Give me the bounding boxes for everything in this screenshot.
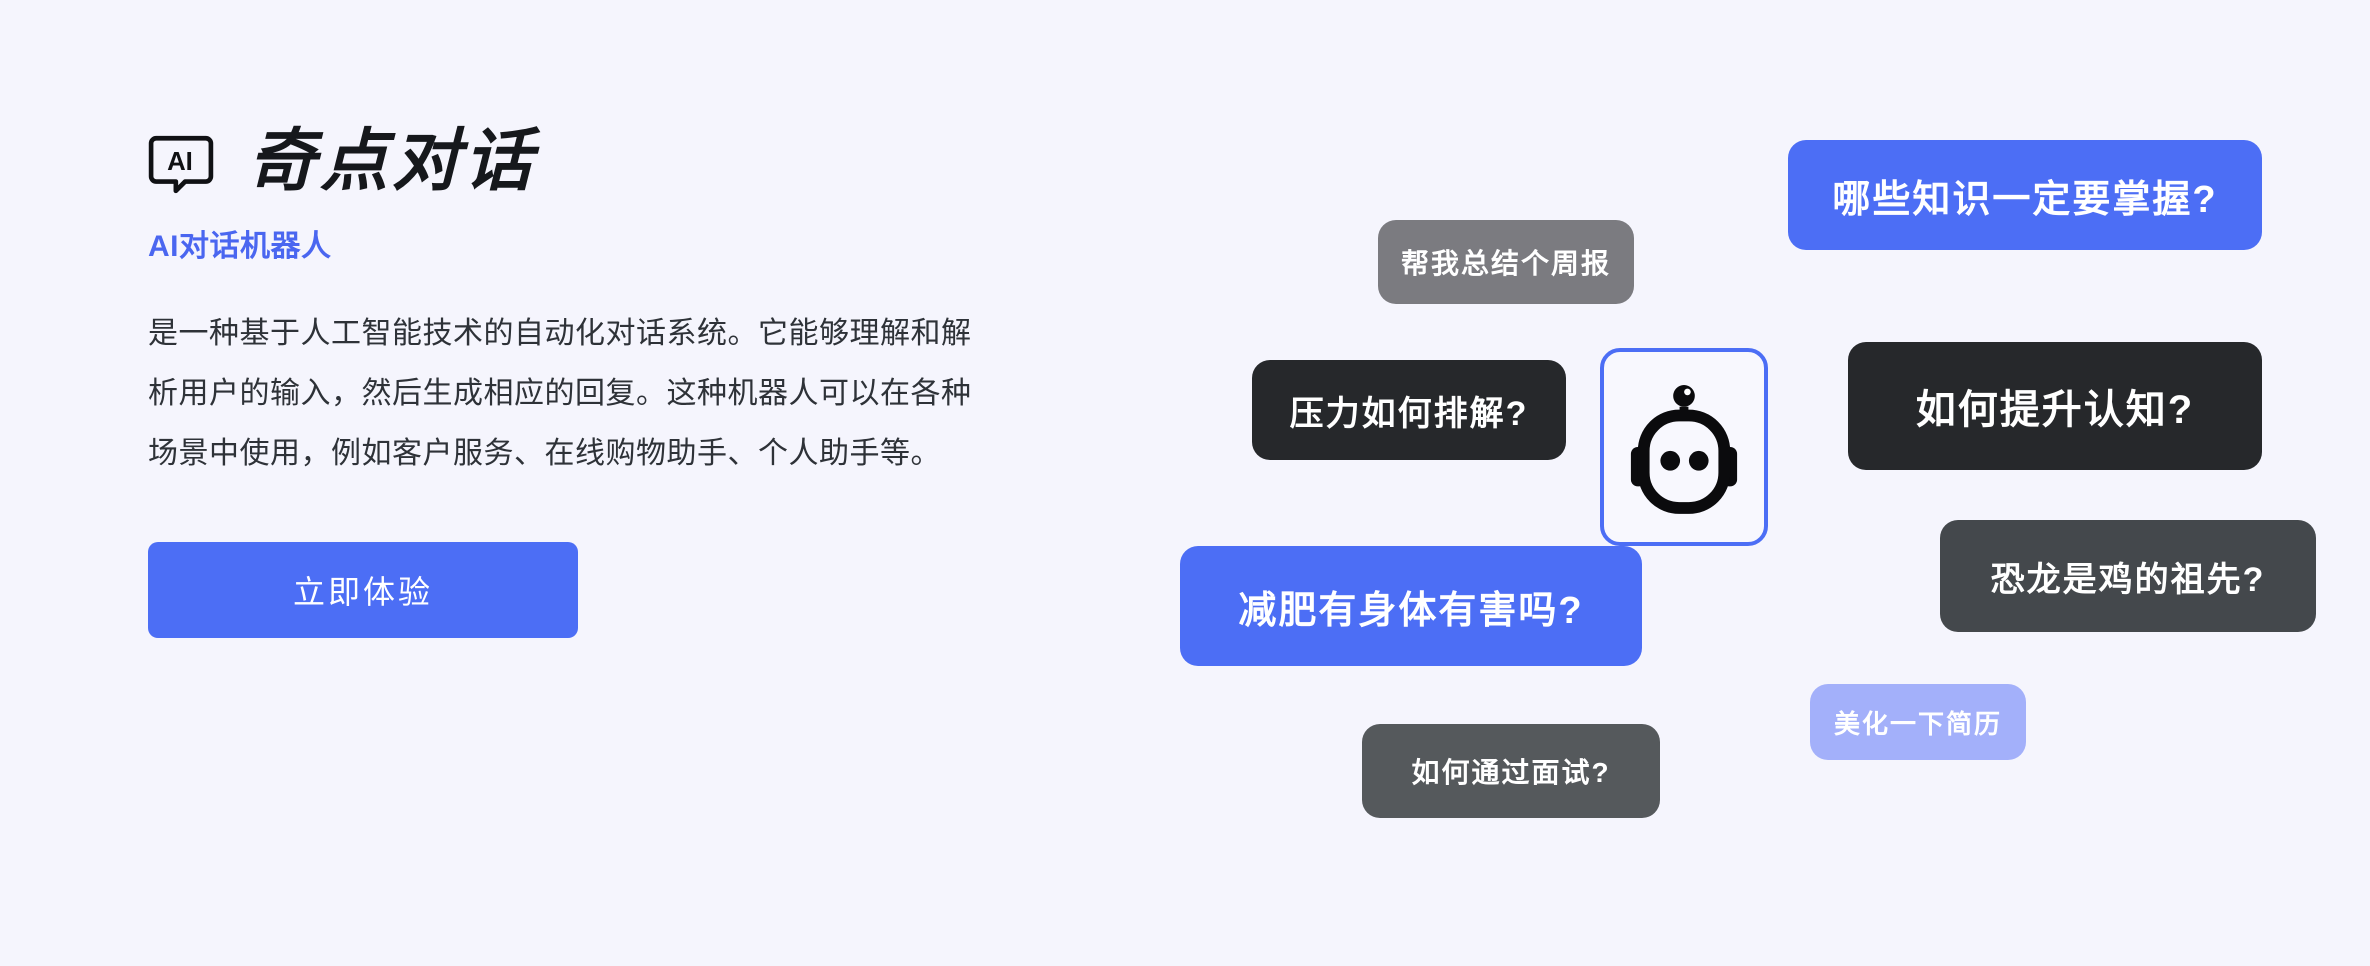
hero-section: AI 奇点对话 AI对话机器人 是一种基于人工智能技术的自动化对话系统。它能够理…: [148, 118, 1048, 638]
bubble-polish-resume[interactable]: 美化一下简历: [1810, 684, 2026, 760]
page-root: AI 奇点对话 AI对话机器人 是一种基于人工智能技术的自动化对话系统。它能够理…: [0, 0, 2370, 966]
page-title: 奇点对话: [248, 127, 536, 195]
bubble-stress-relief[interactable]: 压力如何排解?: [1252, 360, 1566, 460]
title-row: AI 奇点对话: [148, 118, 1048, 204]
ai-speech-bubble-icon: AI: [148, 130, 214, 196]
try-now-button[interactable]: 立即体验: [148, 542, 578, 638]
bubble-dinosaur-chicken[interactable]: 恐龙是鸡的祖先?: [1940, 520, 2316, 632]
bubble-weekly-report[interactable]: 帮我总结个周报: [1378, 220, 1634, 304]
bubble-pass-interview[interactable]: 如何通过面试?: [1362, 724, 1660, 818]
bubble-improve-cognition[interactable]: 如何提升认知?: [1848, 342, 2262, 470]
chat-bubble-cloud: 帮我总结个周报哪些知识一定要掌握?压力如何排解?如何提升认知?恐龙是鸡的祖先?减…: [1150, 0, 2370, 966]
hero-subtitle: AI对话机器人: [148, 232, 1048, 262]
svg-text:AI: AI: [167, 148, 193, 176]
hero-description: 是一种基于人工智能技术的自动化对话系统。它能够理解和解析用户的输入，然后生成相应…: [148, 304, 978, 484]
robot-head-icon: [1625, 378, 1743, 516]
robot-avatar-card: [1600, 348, 1768, 546]
bubble-weight-loss[interactable]: 减肥有身体有害吗?: [1180, 546, 1642, 666]
bubble-must-know[interactable]: 哪些知识一定要掌握?: [1788, 140, 2262, 250]
